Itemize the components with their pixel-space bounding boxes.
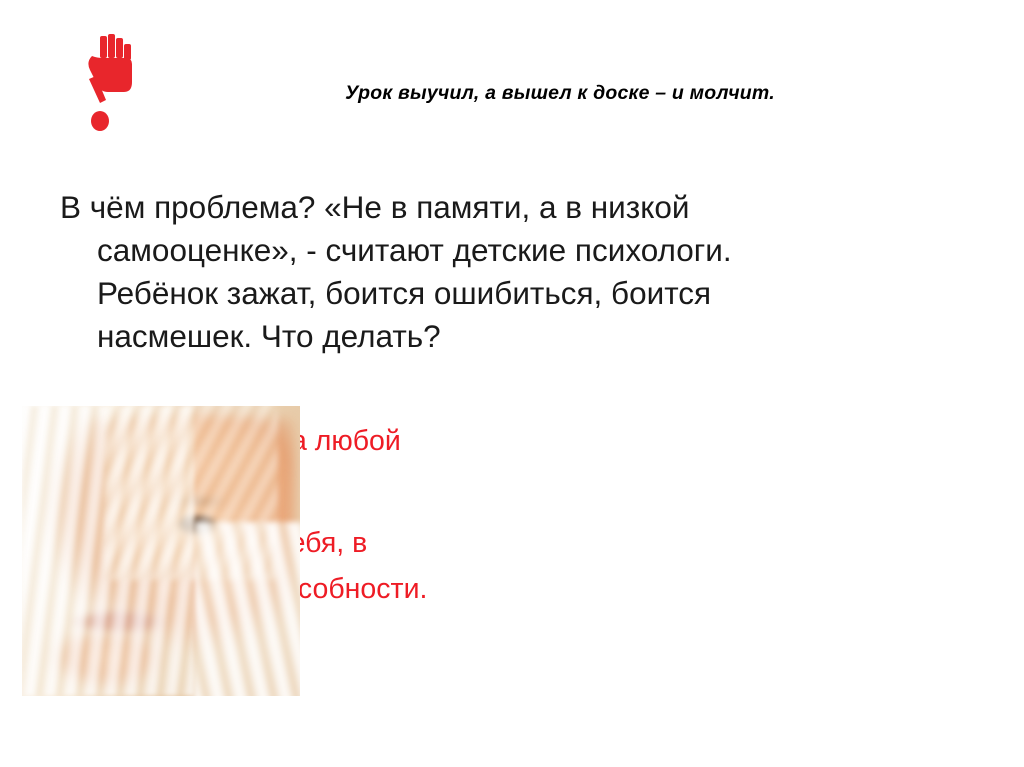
slide-canvas: Урок выучил, а вышел к доске – и молчит.…	[0, 0, 1024, 767]
photo-hair-strands-right	[194, 522, 300, 696]
body-line-4: насмешек. Что делать?	[60, 315, 860, 358]
body-line-3: Ребёнок зажат, боится ошибиться, боится	[60, 272, 860, 315]
body-paragraph: В чём проблема? «Не в памяти, а в низкой…	[60, 186, 860, 358]
child-photo	[22, 406, 300, 696]
body-line-2: самооценке», - считают детские психологи…	[60, 229, 860, 272]
slide-title: Урок выучил, а вышел к доске – и молчит.	[180, 82, 940, 105]
body-line-1: В чём проблема? «Не в памяти, а в низкой	[60, 186, 860, 229]
pointing-hand-icon	[78, 30, 138, 140]
